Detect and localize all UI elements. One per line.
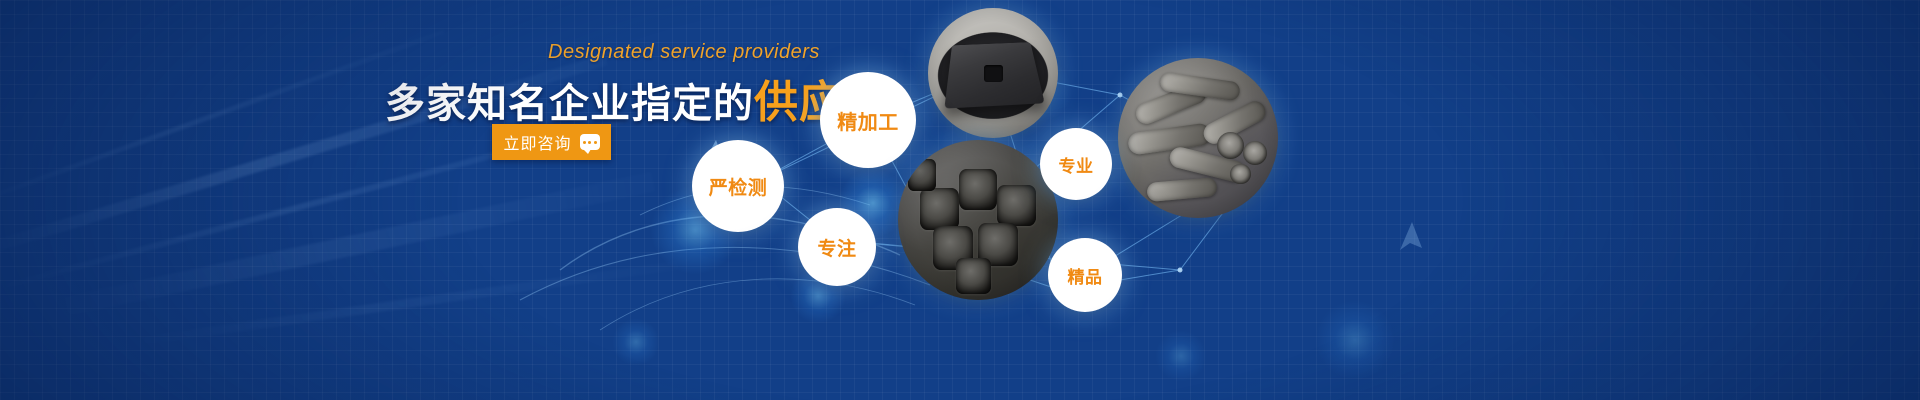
badge-premium[interactable]: 精品 (1048, 238, 1122, 312)
photo-steel-pipes[interactable] (1118, 58, 1278, 218)
photo-metal-plate[interactable] (928, 8, 1058, 138)
consult-now-label: 立即咨询 (503, 130, 571, 154)
page-title: 多家知名企业指定的供应商 (385, 66, 889, 130)
title-primary: 多家知名企业指定的 (385, 81, 754, 127)
badge-professional[interactable]: 专业 (1040, 128, 1112, 200)
badge-label: 严检测 (709, 173, 768, 200)
tagline-text: Designated service providers (548, 41, 820, 64)
hero-banner: Designated service providers 多家知名企业指定的供应… (0, 0, 1920, 400)
glow-particle (1155, 330, 1207, 382)
badge-label: 专业 (1059, 152, 1094, 177)
badge-fine-machining[interactable]: 精加工 (820, 72, 916, 168)
badge-strict-testing[interactable]: 严检测 (692, 140, 784, 232)
consult-now-button[interactable]: 立即咨询 (492, 124, 611, 160)
badge-label: 精品 (1068, 263, 1103, 288)
glow-particle (1315, 300, 1395, 380)
photo-hex-tubes[interactable] (898, 140, 1058, 300)
badge-label: 专注 (817, 234, 856, 261)
speech-bubble-icon (580, 134, 600, 150)
badge-label: 精加工 (837, 106, 899, 135)
badge-focus[interactable]: 专注 (798, 208, 876, 286)
